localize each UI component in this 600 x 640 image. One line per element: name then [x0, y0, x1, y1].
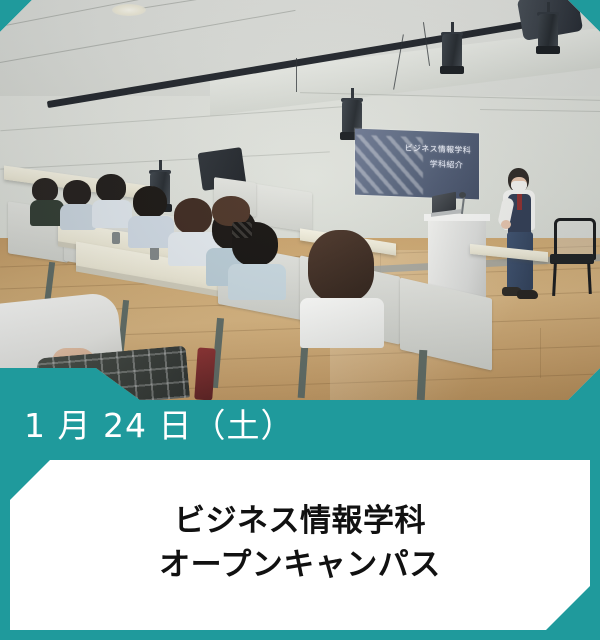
slide-title-line2: 学科紹介 [430, 158, 463, 170]
title-line-1: ビジネス情報学科 [174, 503, 426, 539]
chair-leg [587, 263, 592, 294]
presenter [498, 168, 542, 300]
event-card[interactable]: ビジネス情報学科 学科紹介 [0, 0, 600, 640]
event-date: 1 月 24 日（土） [24, 404, 294, 448]
foreground-student [0, 290, 180, 402]
title-line-2: オープンキャンパス [159, 543, 441, 587]
presenter-hand [501, 220, 511, 229]
student [300, 230, 384, 346]
microphone-head [459, 192, 466, 198]
student [30, 178, 64, 224]
event-photo: ビジネス情報学科 学科紹介 [0, 0, 600, 400]
desk-post [112, 232, 120, 244]
chair [548, 218, 594, 296]
hair-clip [232, 222, 252, 238]
info-card[interactable]: ビジネス情報学科 オープンキャンパス [10, 460, 590, 630]
ceiling-light-icon [112, 4, 146, 16]
page-title: ビジネス情報学科 オープンキャンパス [159, 499, 441, 587]
presenter-shoe [517, 290, 538, 299]
ceiling-cable [296, 58, 297, 92]
chair-leg [552, 263, 557, 296]
presenter-tie [517, 194, 522, 210]
desk-post [150, 246, 159, 260]
presenter-legs [507, 232, 533, 290]
student [60, 180, 96, 228]
projection-screen: ビジネス情報学科 学科紹介 [355, 129, 479, 200]
student [92, 174, 132, 226]
bag [194, 347, 216, 400]
